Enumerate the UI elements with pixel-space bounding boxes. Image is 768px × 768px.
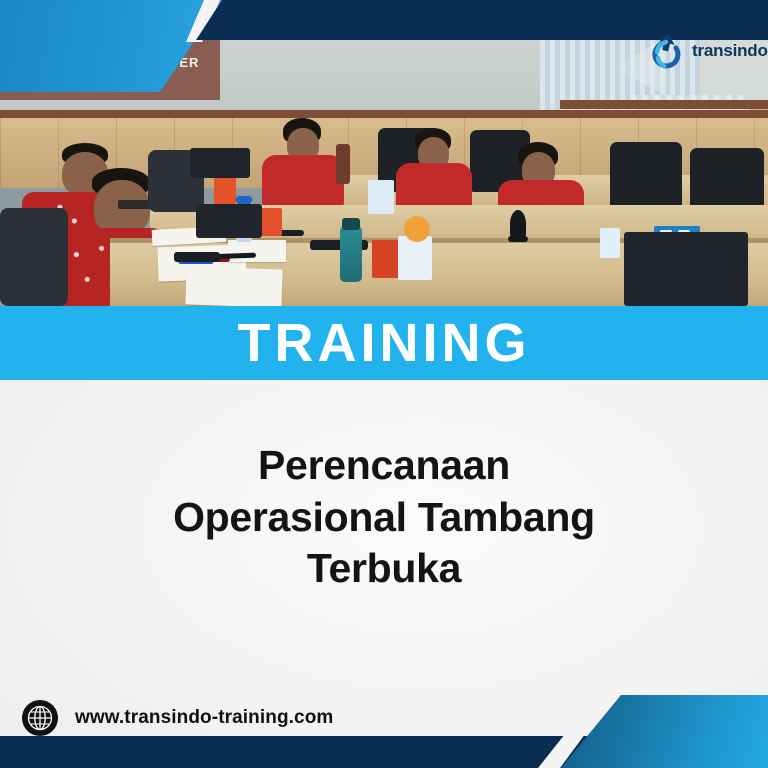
training-banner-label: TRAINING <box>238 316 531 370</box>
globe-icon <box>22 700 58 736</box>
course-title-line-2: Operasional Tambang <box>60 492 708 544</box>
training-banner: TRAINING <box>0 306 768 380</box>
microphone-base <box>508 236 528 242</box>
brand-logo-text: transindo <box>692 41 768 61</box>
snack-box-4 <box>372 240 400 278</box>
snack-box-6 <box>600 228 620 258</box>
smartphone-1 <box>174 252 220 262</box>
course-title-line-1: Perencanaan <box>60 440 708 492</box>
paper-sheet-4 <box>228 240 286 262</box>
transindo-circular-arrow-logo-icon <box>646 28 688 74</box>
website-url[interactable]: www.transindo-training.com <box>75 707 333 729</box>
microphone <box>510 210 526 238</box>
paper-sheet-3 <box>185 266 282 306</box>
bottle-brown <box>336 144 350 184</box>
snack-box-3 <box>368 180 394 214</box>
footer-navy-bar <box>0 736 600 768</box>
laptop-2 <box>190 148 250 178</box>
footer-website-row[interactable]: www.transindo-training.com <box>22 700 333 736</box>
laptop-1 <box>196 204 262 238</box>
course-title-line-3: Terbuka <box>60 543 708 595</box>
monitor <box>624 232 748 306</box>
tumbler-green <box>340 226 362 282</box>
course-title: Perencanaan Operasional Tambang Terbuka <box>0 440 768 595</box>
snack-pile <box>404 216 430 242</box>
training-poster: OWER <box>0 0 768 768</box>
chair-front-1 <box>0 208 68 306</box>
chair-back-3 <box>610 142 682 214</box>
brand-logo[interactable]: transindo <box>646 28 768 74</box>
tumbler-cap <box>342 218 360 230</box>
wood-trim-right <box>560 100 768 109</box>
snack-box-5 <box>398 236 432 280</box>
